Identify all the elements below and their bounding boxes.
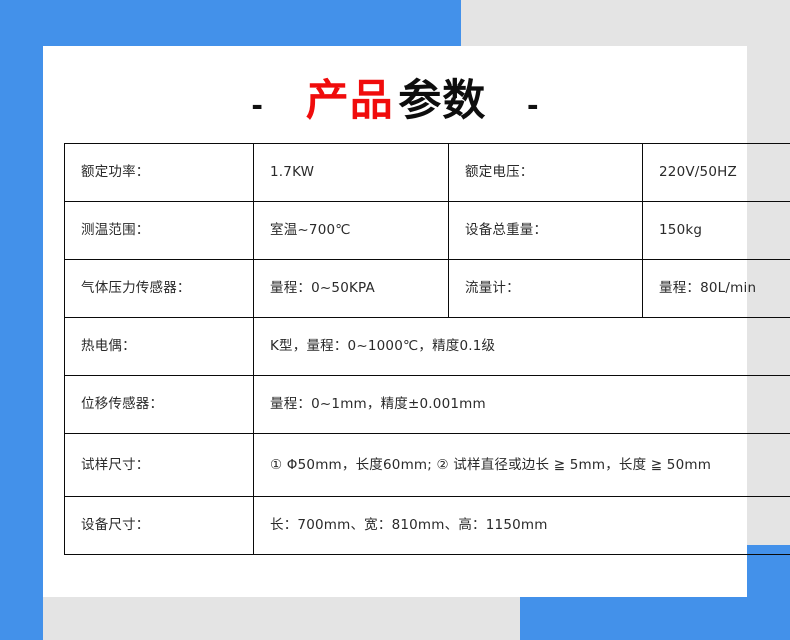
table-row: 设备尺寸： 长：700mm、宽：810mm、高：1150mm xyxy=(65,497,790,555)
table-row: 位移传感器： 量程：0~1mm，精度±0.001mm xyxy=(65,376,790,434)
cell-label-total-weight: 设备总重量： xyxy=(449,202,643,260)
table-row: 额定功率： 1.7KW 额定电压： 220V/50HZ xyxy=(65,144,790,202)
title-left-dash: - xyxy=(252,88,263,122)
cell-value-equipment-size: 长：700mm、宽：810mm、高：1150mm xyxy=(254,497,790,555)
cell-label-sample-size: 试样尺寸： xyxy=(65,434,254,497)
product-parameters-card: - 产品 参数 - 额定功率： 1.7KW 额定电压： 220V/50HZ 测温… xyxy=(43,46,747,597)
title-text-red: 产品 xyxy=(306,80,394,123)
cell-value-rated-voltage: 220V/50HZ xyxy=(643,144,790,202)
cell-value-gas-pressure-sensor: 量程：0~50KPA xyxy=(254,260,449,318)
cell-value-rated-power: 1.7KW xyxy=(254,144,449,202)
cell-label-gas-pressure-sensor: 气体压力传感器： xyxy=(65,260,254,318)
cell-label-flow-meter: 流量计： xyxy=(449,260,643,318)
cell-label-displacement-sensor: 位移传感器： xyxy=(65,376,254,434)
table-row: 气体压力传感器： 量程：0~50KPA 流量计： 量程：80L/min xyxy=(65,260,790,318)
title-right-dash: - xyxy=(527,88,538,122)
cell-value-sample-size: ① Φ50mm，长度60mm; ② 试样直径或边长 ≧ 5mm，长度 ≧ 50m… xyxy=(254,434,790,497)
table-row: 试样尺寸： ① Φ50mm，长度60mm; ② 试样直径或边长 ≧ 5mm，长度… xyxy=(65,434,790,497)
cell-label-temp-range: 测温范围： xyxy=(65,202,254,260)
cell-value-thermocouple: K型，量程：0~1000℃，精度0.1级 xyxy=(254,318,790,376)
table-row: 测温范围： 室温~700℃ 设备总重量： 150kg xyxy=(65,202,790,260)
decorative-bottom-blue-bar xyxy=(520,597,790,640)
page-title: - 产品 参数 - xyxy=(43,80,747,123)
cell-value-displacement-sensor: 量程：0~1mm，精度±0.001mm xyxy=(254,376,790,434)
specification-table: 额定功率： 1.7KW 额定电压： 220V/50HZ 测温范围： 室温~700… xyxy=(64,143,790,555)
decorative-top-blue-bar xyxy=(0,0,461,46)
cell-value-flow-meter: 量程：80L/min xyxy=(643,260,790,318)
cell-label-equipment-size: 设备尺寸： xyxy=(65,497,254,555)
cell-label-rated-voltage: 额定电压： xyxy=(449,144,643,202)
cell-label-thermocouple: 热电偶： xyxy=(65,318,254,376)
cell-value-temp-range: 室温~700℃ xyxy=(254,202,449,260)
title-text-black: 参数 xyxy=(398,80,486,123)
cell-label-rated-power: 额定功率： xyxy=(65,144,254,202)
table-row: 热电偶： K型，量程：0~1000℃，精度0.1级 xyxy=(65,318,790,376)
cell-value-total-weight: 150kg xyxy=(643,202,790,260)
decorative-left-blue-bar xyxy=(0,0,43,640)
